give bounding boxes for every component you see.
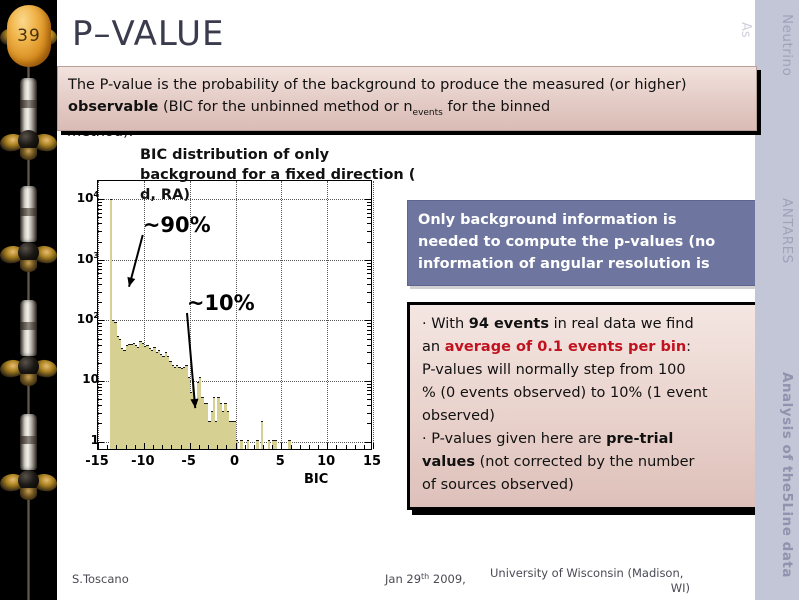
bic-distribution-chart: BIC distribution of only background for … (72, 165, 402, 495)
footer-date-main: Jan 29 (385, 572, 421, 586)
slide-number-label: 39 (17, 26, 41, 46)
y-tick-minor (367, 217, 371, 218)
statement-line-1: The P-value is the probability of the ba… (68, 77, 630, 93)
results-line-7: values (not corrected by the number (422, 451, 770, 474)
y-tick-minor (98, 352, 102, 353)
results-values-bold: values (422, 454, 475, 470)
y-tick-minor (367, 209, 371, 210)
y-tick-minor (367, 242, 371, 243)
y-tick-minor (98, 363, 102, 364)
results-line-5: observed) (422, 405, 770, 428)
results-b1-prefix: · With (422, 316, 469, 332)
y-tick-minor (367, 323, 371, 324)
x-tick-minor (135, 445, 136, 449)
y-tick-minor (98, 269, 102, 270)
footer-date: Jan 29th 2009, (385, 572, 466, 586)
x-axis-tick-label: 0 (230, 454, 239, 469)
statement-line-2-suffix: for the binned (443, 99, 550, 115)
detector-storey (0, 352, 57, 398)
y-tick-minor (98, 292, 102, 293)
storey-cup (20, 148, 37, 160)
results-94-events-bold: 94 events (469, 316, 549, 332)
x-tick-minor (217, 445, 218, 449)
statement-line-2-prefix: higher) (634, 77, 686, 93)
results-b7-suffix: (not corrected by the number (475, 454, 695, 470)
x-axis-tick-label: 5 (276, 454, 285, 469)
x-tick-minor (126, 445, 127, 449)
x-tick-minor (226, 445, 227, 449)
y-tick-minor (367, 223, 371, 224)
x-axis-title: BIC (304, 472, 328, 487)
y-tick-minor (367, 363, 371, 364)
y-tick-minor (98, 413, 102, 414)
x-tick-minor (318, 445, 319, 449)
y-tick-minor (98, 284, 102, 285)
y-tick-minor (98, 209, 102, 210)
y-tick-minor (367, 390, 371, 391)
y-tick-major (365, 381, 371, 382)
slide-number-badge: 39 (7, 5, 51, 67)
y-tick-minor (367, 278, 371, 279)
detector-storey (0, 126, 57, 172)
y-tick-minor (98, 213, 102, 214)
x-tick-minor (309, 445, 310, 449)
x-tick-minor (171, 445, 172, 449)
chart-caption-line-1: BIC distribution of only (140, 145, 440, 165)
results-box: · With 94 events in real data we find an… (407, 302, 783, 510)
detector-storey (0, 238, 57, 284)
y-tick-minor (98, 330, 102, 331)
y-tick-minor (367, 302, 371, 303)
y-axis-tick-label: 102 (59, 311, 99, 326)
y-tick-minor (98, 273, 102, 274)
y-axis-tick-label: 10 (59, 372, 99, 386)
y-tick-major (365, 442, 371, 443)
y-axis-tick-label: 104 (59, 190, 99, 205)
x-tick-minor (153, 445, 154, 449)
y-tick-minor (367, 405, 371, 406)
y-tick-minor (98, 399, 102, 400)
chart-caption-line-2: background for a fixed direction ( (140, 165, 440, 185)
y-tick-minor (98, 423, 102, 424)
y-tick-minor (367, 269, 371, 270)
chart-caption: BIC distribution of only background for … (140, 145, 440, 205)
histogram-bar (240, 440, 242, 449)
x-tick-minor (116, 445, 117, 449)
x-tick-minor (346, 445, 347, 449)
x-tick-minor (272, 445, 273, 449)
y-tick-minor (98, 217, 102, 218)
x-tick-minor (208, 445, 209, 449)
results-bullet-2: an average of 0.1 events per bin: (422, 336, 770, 359)
x-tick-minor (364, 445, 365, 449)
left-decorative-strip (0, 0, 57, 600)
y-tick-minor (98, 387, 102, 388)
y-tick-minor (98, 326, 102, 327)
y-tick-minor (367, 352, 371, 353)
x-axis-tick-label: 10 (317, 454, 335, 469)
x-tick-minor (107, 445, 108, 449)
blue-info-box: Only background information is needed to… (407, 200, 759, 286)
footer-venue-main: University of Wisconsin (Madison, (490, 566, 683, 580)
x-tick-major (190, 443, 191, 449)
y-tick-minor (98, 345, 102, 346)
x-axis-tick-label: -15 (85, 454, 109, 469)
results-b2-suffix: : (686, 339, 691, 355)
right-sidebar: Neutrino ANTARES Analysis of the5Line da… (755, 0, 799, 600)
x-tick-minor (291, 445, 292, 449)
storey-cup (20, 260, 37, 272)
blue-box-line-3: information of angular resolution is (418, 253, 748, 275)
storey-cup (20, 374, 37, 386)
results-b1-suffix: in real data we find (549, 316, 694, 332)
y-tick-minor (98, 242, 102, 243)
footer-author: S.Toscano (72, 572, 129, 586)
x-axis-tick-label: -5 (181, 454, 195, 469)
y-tick-minor (367, 263, 371, 264)
gridline-vertical (373, 181, 374, 449)
y-tick-minor (367, 326, 371, 327)
chart-annotation-arrow (173, 299, 209, 422)
x-tick-minor (199, 445, 200, 449)
footer-date-year: 2009, (429, 572, 466, 586)
y-tick-minor (367, 345, 371, 346)
y-tick-minor (367, 399, 371, 400)
y-tick-minor (367, 413, 371, 414)
y-tick-minor (367, 284, 371, 285)
results-b2-prefix: an (422, 339, 445, 355)
y-tick-minor (98, 339, 102, 340)
footer-venue-state: WI) (490, 581, 690, 596)
y-tick-minor (98, 405, 102, 406)
results-bullet-1: · With 94 events in real data we find (422, 313, 770, 336)
y-tick-minor (98, 394, 102, 395)
x-tick-minor (263, 445, 264, 449)
y-tick-minor (367, 213, 371, 214)
y-tick-minor (98, 231, 102, 232)
y-tick-minor (367, 231, 371, 232)
y-tick-minor (367, 387, 371, 388)
y-tick-minor (98, 205, 102, 206)
results-line-8: of sources observed) (422, 474, 770, 497)
results-bullet-3: · P-values given here are pre-trial (422, 428, 770, 451)
results-line-3: P-values will normally step from 100 (422, 359, 770, 382)
x-tick-minor (300, 445, 301, 449)
y-tick-minor (98, 334, 102, 335)
x-tick-major (236, 443, 237, 449)
page-title: P–VALUE (72, 14, 224, 54)
blue-box-line-2: needed to compute the p-values (no (418, 231, 748, 253)
histogram-bar (275, 440, 277, 449)
statement-box: The P-value is the probability of the ba… (57, 66, 757, 131)
results-line-4: % (0 events observed) to 10% (1 event (422, 382, 770, 405)
y-tick-major (365, 320, 371, 321)
sidebar-label-neutrino: Neutrino (779, 14, 795, 76)
y-tick-minor (367, 394, 371, 395)
statement-line-2-mid: (BIC for the unbinned method or n (158, 99, 412, 115)
histogram-bar (268, 440, 270, 449)
y-tick-minor (367, 266, 371, 267)
statement-observable-bold: observable (68, 99, 158, 115)
y-tick-major (365, 260, 371, 261)
histogram-bar (247, 440, 249, 449)
histogram-bar (256, 440, 258, 449)
x-tick-minor (355, 445, 356, 449)
x-tick-major (144, 443, 145, 449)
y-tick-minor (98, 302, 102, 303)
x-tick-minor (162, 445, 163, 449)
y-tick-minor (98, 278, 102, 279)
x-tick-minor (181, 445, 182, 449)
x-tick-major (327, 443, 328, 449)
results-pretrial-bold: pre-trial (606, 431, 673, 447)
detector-module (20, 414, 37, 470)
y-tick-minor (367, 339, 371, 340)
statement-events-subscript: events (413, 108, 443, 118)
y-tick-minor (367, 423, 371, 424)
x-tick-major (373, 443, 374, 449)
detector-module (20, 186, 37, 242)
x-axis-tick-label: 15 (363, 454, 381, 469)
x-tick-minor (336, 445, 337, 449)
footer-venue: University of Wisconsin (Madison, WI) (490, 566, 690, 596)
y-tick-minor (367, 273, 371, 274)
sidebar-label-antares: ANTARES (779, 198, 795, 264)
chart-caption-line-3: d, RA) (140, 185, 440, 205)
x-tick-minor (245, 445, 246, 449)
y-tick-minor (367, 292, 371, 293)
y-tick-minor (98, 223, 102, 224)
results-average-highlight: average of 0.1 events per bin (445, 339, 686, 355)
y-tick-minor (367, 334, 371, 335)
ghost-sidebar-label: As (738, 22, 753, 38)
sidebar-label-analysis: Analysis of the5Line data (779, 372, 795, 578)
y-tick-minor (98, 266, 102, 267)
blue-box-line-1: Only background information is (418, 209, 748, 231)
detector-module (20, 300, 37, 356)
y-axis-tick-label: 1 (59, 433, 99, 447)
detector-storey (0, 466, 57, 512)
results-b6-prefix: · P-values given here are (422, 431, 606, 447)
x-tick-major (281, 443, 282, 449)
y-tick-minor (367, 330, 371, 331)
y-tick-minor (367, 384, 371, 385)
y-tick-minor (367, 205, 371, 206)
storey-cup (20, 488, 37, 500)
x-tick-minor (254, 445, 255, 449)
x-axis-tick-label: -10 (131, 454, 155, 469)
chart-annotation-arrow (115, 221, 157, 301)
y-axis-tick-label: 103 (59, 251, 99, 266)
y-tick-minor (98, 390, 102, 391)
